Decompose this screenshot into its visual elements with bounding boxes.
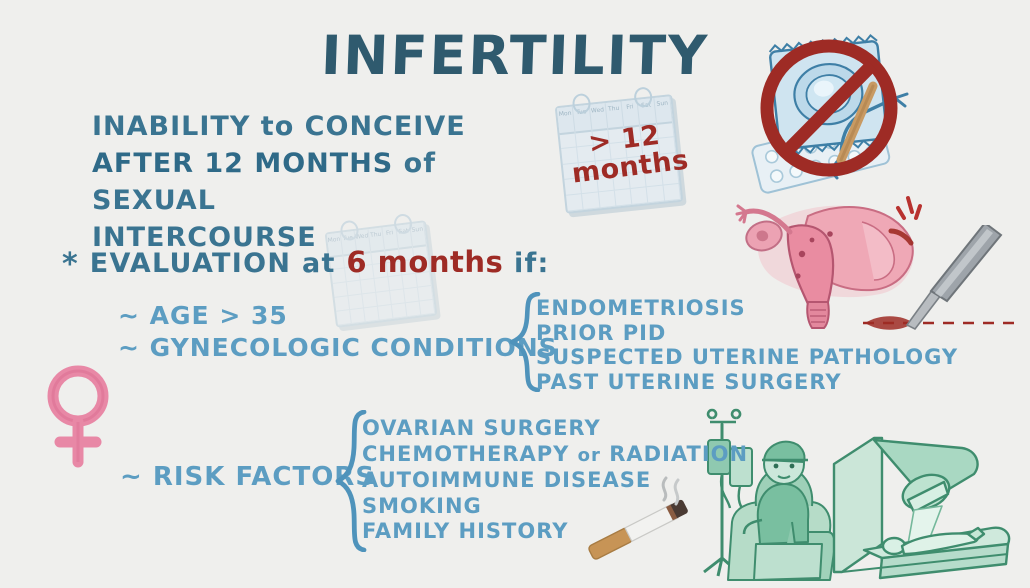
risk-factor-text: OVARIAN SURGERY: [362, 416, 601, 440]
illustration-canvas: INFERTILITY INABILITY to CONCEIVE AFTER …: [0, 0, 1030, 588]
calendar-weekday: Sun: [654, 96, 673, 123]
risk-factor-text: CHEMOTHERAPY: [362, 442, 569, 466]
criteria-text: AGE > 35: [150, 301, 288, 330]
risk-marker: ~: [120, 462, 143, 492]
criteria-marker: ~: [118, 301, 140, 330]
evaluation-suffix: if:: [514, 248, 550, 279]
definition-inability: INABILITY: [92, 111, 250, 142]
list-item: AUTOIMMUNE DISEASE: [362, 468, 748, 494]
definition-line-1: INABILITY to CONCEIVE: [92, 108, 562, 145]
no-contraception-icon: [745, 28, 925, 196]
risk-factor-connector: or: [578, 445, 601, 466]
list-item: PRIOR PID: [536, 321, 958, 346]
list-item: ~ GYNECOLOGIC CONDITIONS: [118, 332, 558, 364]
asterisk-bullet-icon: *: [62, 247, 79, 282]
criteria-list: ~ AGE > 35 ~ GYNECOLOGIC CONDITIONS: [118, 300, 558, 364]
definition-sexual: SEXUAL: [92, 185, 216, 216]
evaluation-label: EVALUATION: [90, 248, 292, 279]
venus-symbol-icon: [34, 362, 126, 470]
list-item: ENDOMETRIOSIS: [536, 296, 958, 321]
list-item: FAMILY HISTORY: [362, 519, 748, 545]
definition-conceive: CONCEIVE: [305, 111, 466, 142]
criteria-text: GYNECOLOGIC CONDITIONS: [150, 333, 558, 362]
calendar-weekday: Sun: [410, 222, 427, 246]
evaluation-preposition: at: [302, 248, 336, 279]
list-item: ~ AGE > 35: [118, 300, 558, 332]
list-item: CHEMOTHERAPY or RADIATION: [362, 442, 748, 469]
list-item: SUSPECTED UTERINE PATHOLOGY: [536, 345, 958, 370]
definition-line-2: AFTER 12 MONTHS of SEXUAL: [92, 145, 562, 219]
criteria-marker: ~: [118, 333, 140, 362]
list-item: OVARIAN SURGERY: [362, 416, 748, 442]
gynecologic-conditions-list: ENDOMETRIOSIS PRIOR PID SUSPECTED UTERIN…: [536, 296, 958, 394]
risk-factors-list: OVARIAN SURGERY CHEMOTHERAPY or RADIATIO…: [362, 416, 748, 545]
evaluation-highlight: 6 months: [346, 245, 503, 279]
list-item: PAST UTERINE SURGERY: [536, 370, 958, 395]
risk-factor-text: AUTOIMMUNE DISEASE: [362, 468, 651, 492]
definition-of: of: [404, 148, 436, 179]
definition-after-12-months: AFTER 12 MONTHS: [92, 148, 393, 179]
list-item: SMOKING: [362, 494, 748, 520]
risk-factor-text: FAMILY HISTORY: [362, 519, 568, 543]
evaluation-line: * EVALUATION at 6 months if:: [62, 245, 550, 282]
risk-factor-text: SMOKING: [362, 494, 482, 518]
risk-factor-text-2: RADIATION: [609, 442, 748, 466]
definition-to: to: [261, 111, 294, 142]
radiation-machine-icon: [822, 424, 1030, 588]
